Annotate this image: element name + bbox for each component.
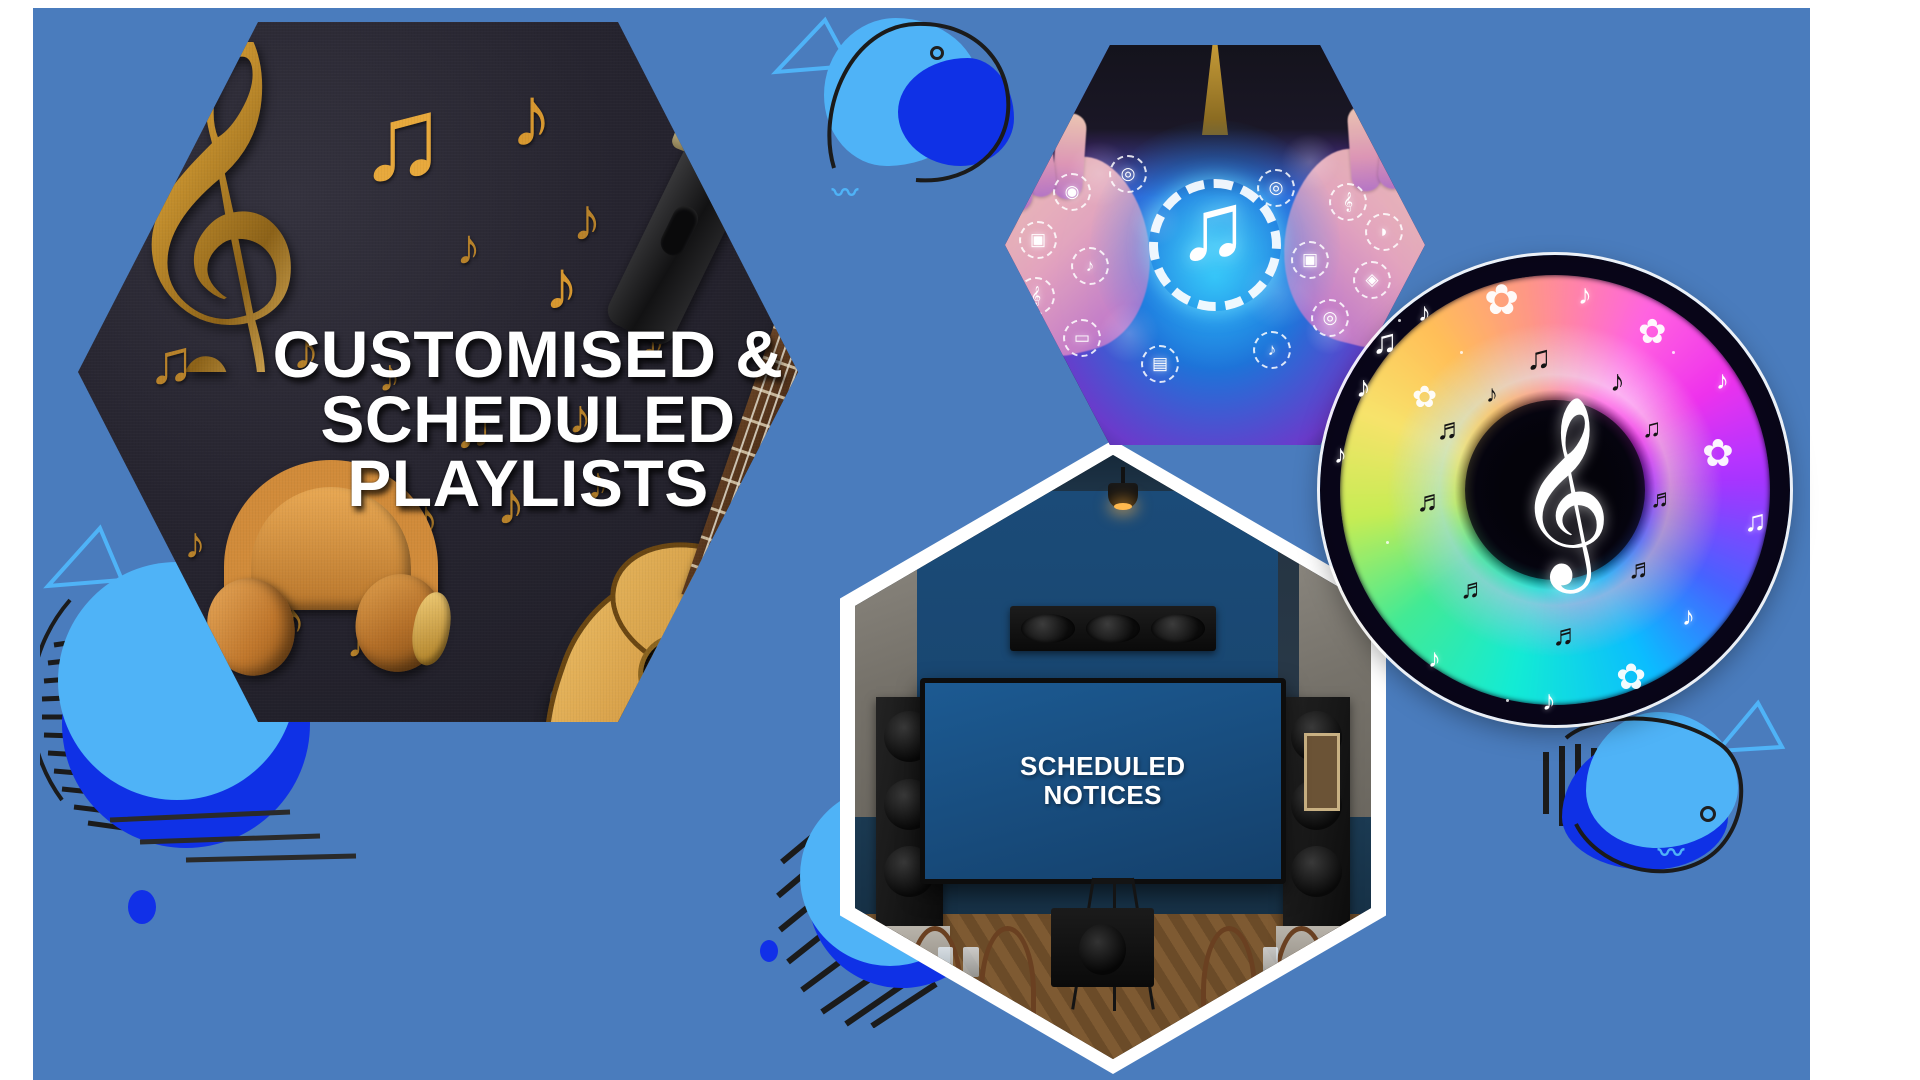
music-note-icon: ♪ [1334,441,1347,467]
tv-line-1: SCHEDULED [1020,752,1185,781]
poster-canvas: 〰 𝄞 ♫ ♪ ♪ ♪ ♫ ♪ ♪ ♪ ♪ ♫ ♪ ♫ ♪ ♪ ♪ ♪ ♪ ♪ [0,0,1920,1080]
treble-clef-small-icon: 𝄞 [1329,183,1367,221]
headline-line-1: CUSTOMISED & [248,322,798,387]
track-spotlight-icon [1108,467,1138,509]
music-note-icon: ♪ [346,618,370,666]
music-note-icon: ♪ [1682,603,1695,629]
flower-ornament-icon: ✿ [1484,279,1519,321]
headphone-icon: ◗ [1365,213,1403,251]
music-note-icon: ♪ [1578,281,1592,309]
music-note-icon: ♪ [1610,367,1625,397]
music-note-icon: ♬ [1436,415,1466,445]
music-note-icon: ♪ [456,222,481,272]
music-note-icon: ♬ [1460,575,1488,603]
music-note-icon: ♬ [1552,621,1582,651]
music-note-icon: ♬ [1628,555,1656,583]
treble-clef-icon: 𝄞 [1515,408,1612,572]
mouse-icon: ▭ [1063,319,1101,357]
camera-icon: ▣ [1019,221,1057,259]
eighth-note-icon: ♪ [1071,247,1109,285]
music-note-icon: ♪ [1542,687,1556,715]
tv-display[interactable]: SCHEDULED NOTICES [920,678,1286,883]
headline-line-2: SCHEDULED [248,387,798,452]
flower-ornament-icon: ✿ [1412,383,1437,413]
music-note-icon: ♫ [1744,507,1767,537]
music-note-icon: ♬ [1416,487,1446,517]
music-note-icon: ♪ [544,250,579,320]
tv-line-2: NOTICES [1043,781,1161,810]
music-note-icon: ♪ [1418,299,1431,325]
music-note-icon: ♫ [148,332,195,394]
music-note-icon: ♪ [1428,645,1441,671]
music-note-icon: ♪ [1716,367,1729,393]
music-note-icon: ♫ [1372,325,1398,359]
flower-ornament-icon: ✿ [1638,315,1667,349]
headline-line-3: PLAYLISTS [248,451,798,516]
webcam-icon: ◎ [1109,155,1147,193]
flower-ornament-icon: ✿ [1702,435,1734,473]
music-note-icon: ♫ [358,80,447,198]
subwoofer [1051,908,1154,987]
rainbow-music-swirl[interactable]: 𝄞 ✿ ✿ ✿ ✿ ✿ ♫ ♪ ♪ ♪ ♪ ♪ ♫ ♪ ♪ ♪ ♫ ♪ ♫ ♬ … [1320,255,1790,725]
flower-ornament-icon: ✿ [1616,659,1646,695]
clapperboard-icon: ▤ [1141,345,1179,383]
page-title: CUSTOMISED & SCHEDULED PLAYLISTS [248,322,798,516]
music-note-icon: ♬ [1650,485,1676,511]
video-camera-icon: ▣ [1291,241,1329,279]
music-note-icon: ♪ [1486,383,1498,407]
center-channel-speaker [1010,606,1216,651]
quarter-note-icon: ♪ [1253,331,1291,369]
webcam-icon-2: ◎ [1311,299,1349,337]
music-note-icon: ♫ [1526,341,1552,375]
music-note-icon: ♫ [1642,415,1662,441]
music-note-icon: ♫ [1177,179,1249,275]
film-reel-icon: ◉ [1053,173,1091,211]
tv-screen-content: SCHEDULED NOTICES [925,683,1281,878]
microphone-icon: ◎ [1257,169,1295,207]
music-note-icon: ♪ [1356,373,1371,403]
music-note-icon: ♪ [184,522,206,566]
music-note-icon: ♪ [278,592,306,648]
music-note-icon: ♪ [510,74,553,160]
headphone-cup-right [348,567,450,678]
speaker-icon: ◈ [1353,261,1391,299]
music-note-icon: ♪ [572,190,602,250]
wall-picture-frame [1304,733,1340,812]
